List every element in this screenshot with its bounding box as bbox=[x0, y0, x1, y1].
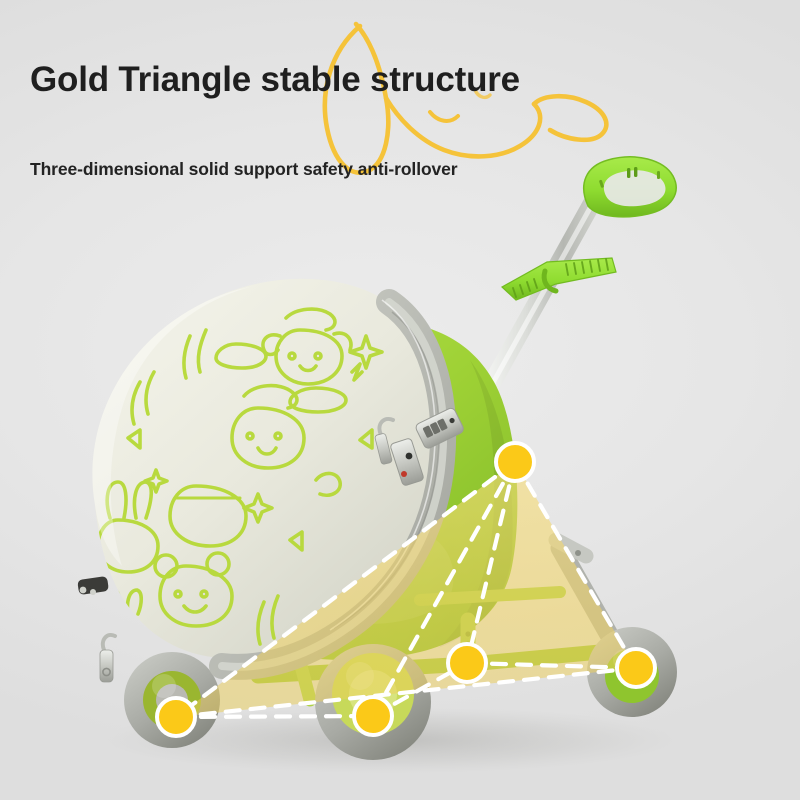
page-subtitle: Three-dimensional solid support safety a… bbox=[30, 159, 458, 180]
product-marketing-image: Gold Triangle stable structure Three-dim… bbox=[0, 0, 800, 800]
node-rear-wheel-contact bbox=[615, 647, 657, 689]
triangle-node-dots bbox=[0, 0, 800, 800]
node-mid-wheel-contact bbox=[352, 695, 394, 737]
node-front-wheel-contact bbox=[155, 696, 197, 738]
page-title: Gold Triangle stable structure bbox=[30, 60, 520, 100]
node-apex-handle-joint bbox=[494, 441, 536, 483]
node-center-chassis-joint bbox=[446, 642, 488, 684]
